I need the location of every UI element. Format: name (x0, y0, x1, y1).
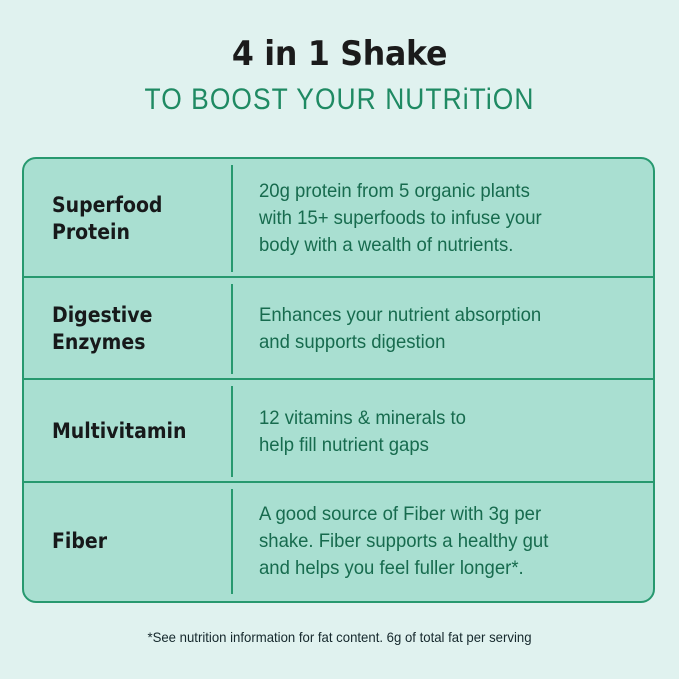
table-cell-description: A good source of Fiber with 3g per shake… (233, 483, 653, 600)
benefit-description: 20g protein from 5 organic plants with 1… (259, 178, 542, 259)
benefits-table: Superfood Protein 20g protein from 5 org… (22, 157, 655, 603)
table-row: Superfood Protein 20g protein from 5 org… (24, 159, 653, 278)
benefit-description: A good source of Fiber with 3g per shake… (259, 501, 548, 582)
table-row: Digestive Enzymes Enhances your nutrient… (24, 278, 653, 380)
benefit-name: Digestive Enzymes (52, 302, 152, 356)
benefit-description: 12 vitamins & minerals to help fill nutr… (259, 405, 466, 459)
page-subtitle: TO BOOST YOUR NUTRiTiON (41, 82, 639, 118)
table-cell-label: Superfood Protein (24, 159, 231, 278)
benefit-description: Enhances your nutrient absorption and su… (259, 302, 541, 356)
table-cell-description: 20g protein from 5 organic plants with 1… (233, 159, 653, 278)
nutrition-infographic: 4 in 1 Shake TO BOOST YOUR NUTRiTiON Sup… (0, 0, 679, 679)
heading-block: 4 in 1 Shake TO BOOST YOUR NUTRiTiON (0, 34, 679, 118)
table-row: Fiber A good source of Fiber with 3g per… (24, 483, 653, 600)
footnote-disclaimer: *See nutrition information for fat conte… (20, 627, 658, 647)
table-cell-label: Multivitamin (24, 380, 231, 483)
table-cell-label: Fiber (24, 483, 231, 600)
page-title: 4 in 1 Shake (24, 34, 655, 74)
benefit-name: Superfood Protein (52, 192, 162, 246)
benefits-table-body: Superfood Protein 20g protein from 5 org… (24, 159, 653, 601)
benefit-name: Multivitamin (52, 418, 186, 445)
table-row: Multivitamin 12 vitamins & minerals to h… (24, 380, 653, 483)
table-cell-label: Digestive Enzymes (24, 278, 231, 380)
table-cell-description: Enhances your nutrient absorption and su… (233, 278, 653, 380)
benefit-name: Fiber (52, 528, 107, 555)
table-cell-description: 12 vitamins & minerals to help fill nutr… (233, 380, 653, 483)
